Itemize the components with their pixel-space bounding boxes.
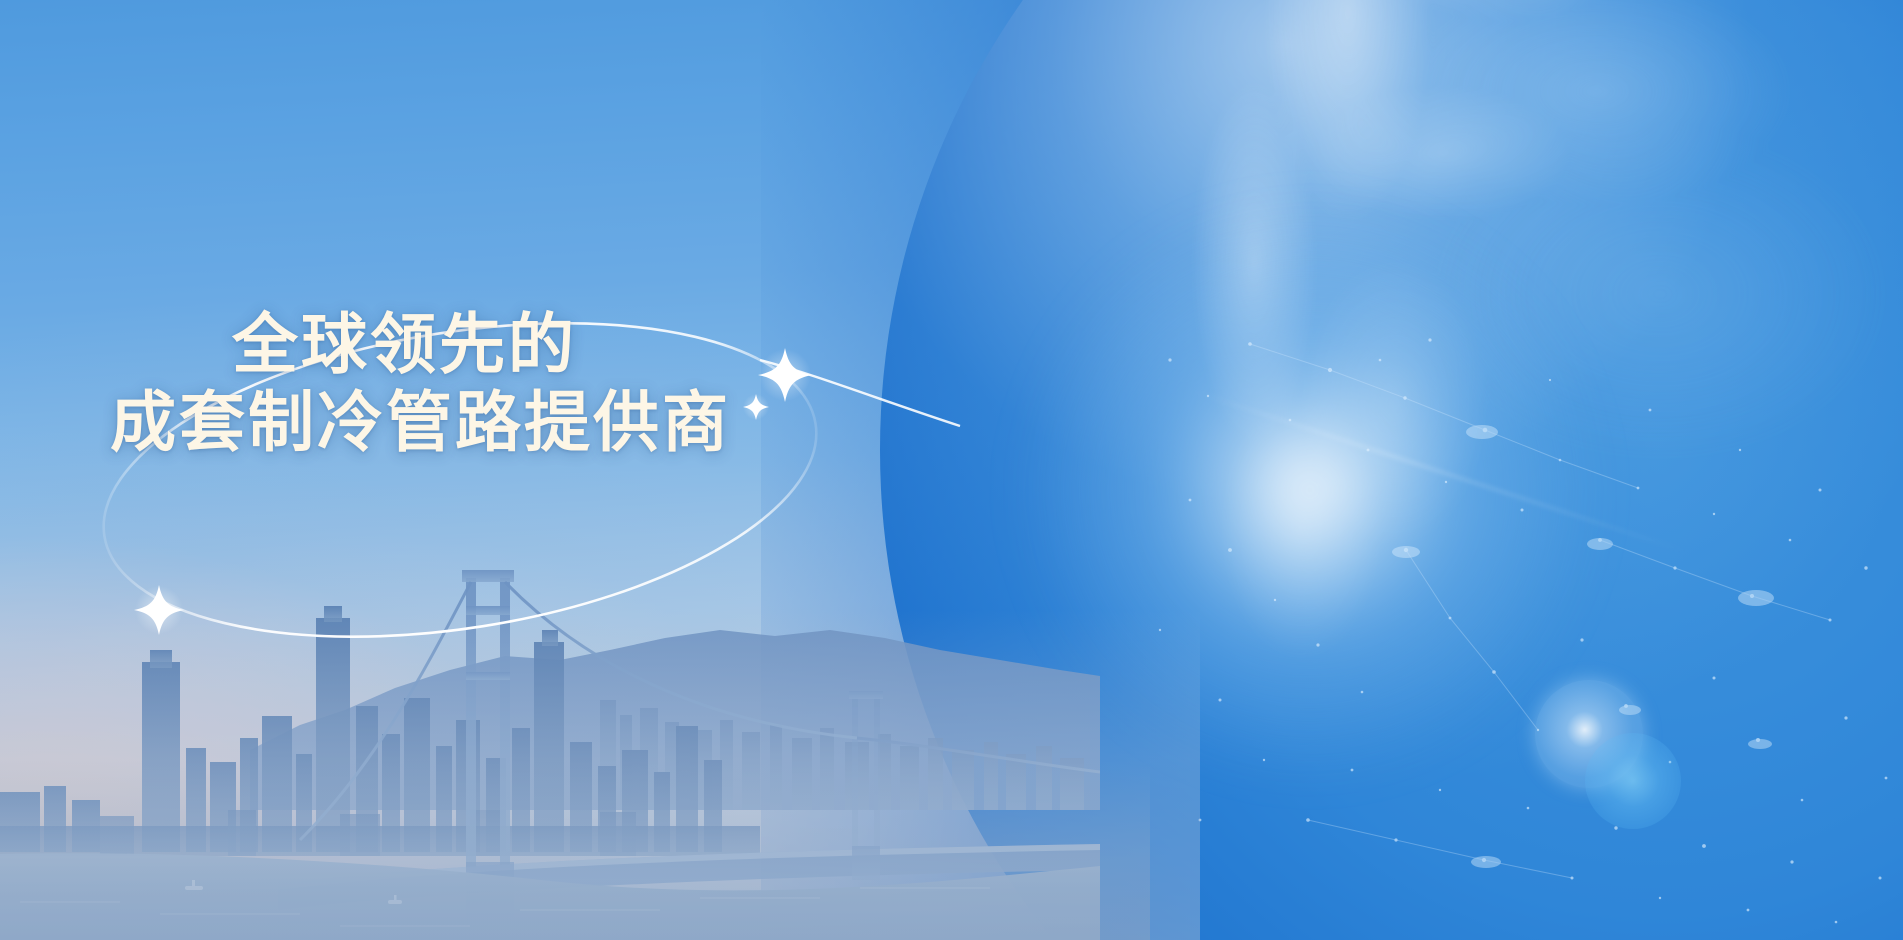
page-title: 全球领先的 成套制冷管路提供商 xyxy=(110,306,870,462)
sparkle-small xyxy=(743,394,769,420)
landscape xyxy=(0,510,1100,940)
space-backdrop-deep xyxy=(1047,0,1903,940)
orbit-tail xyxy=(760,360,960,426)
lens-flare-cyan xyxy=(1585,733,1681,829)
globe-clouds xyxy=(880,0,1903,940)
suspension-bridge xyxy=(278,570,1100,920)
city-skyline-far xyxy=(600,700,1084,810)
sea xyxy=(0,853,1100,940)
space-backdrop xyxy=(761,0,1903,940)
globe-atmosphere-glow xyxy=(740,0,1903,940)
globe xyxy=(880,0,1903,940)
sun-glow xyxy=(1000,180,1620,800)
sea-haze xyxy=(0,760,1150,940)
headline-line-1: 全球领先的 xyxy=(232,306,870,384)
lens-flare-white xyxy=(1535,680,1643,788)
city-lights xyxy=(1130,300,1903,940)
globe-body xyxy=(880,0,1903,940)
atmospheric-haze xyxy=(0,610,1200,940)
sparkle-left xyxy=(134,585,184,635)
orbit-ellipse xyxy=(81,278,838,683)
orbit-swoosh xyxy=(60,250,860,690)
mountains xyxy=(250,630,1100,810)
headline-line-2: 成套制冷管路提供商 xyxy=(110,384,870,462)
city-skyline xyxy=(0,606,760,856)
sparkle-large xyxy=(758,348,812,402)
hero-banner: 全球领先的 成套制冷管路提供商 xyxy=(0,0,1903,940)
sun-rim-light xyxy=(880,0,1903,940)
boats xyxy=(185,880,402,904)
lens-flare-streak xyxy=(1192,390,1687,554)
